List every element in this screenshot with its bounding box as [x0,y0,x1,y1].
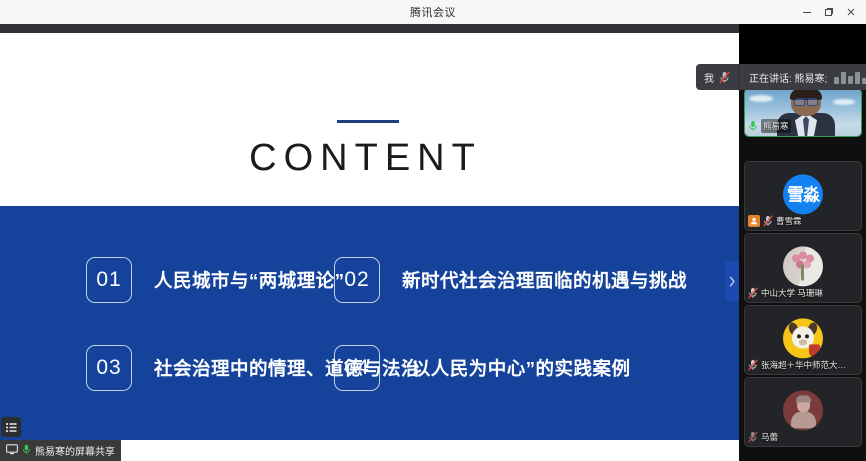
agenda-number: 02 [334,257,380,303]
tile-label: 张海超＋华中师范大… [748,359,846,371]
host-badge-icon [748,215,760,227]
audio-wave-icon [834,71,866,84]
avatar-initials: 雪淼 [787,186,819,203]
active-speaker-panel[interactable]: 正在讲话: 熊易寒; [739,64,866,90]
tencent-meeting-window: 腾讯会议 CONTENT [0,0,866,461]
agenda-number: 03 [86,345,132,391]
portrait-hair [796,395,811,402]
maximize-button[interactable] [818,2,840,22]
dog-eye [797,334,801,338]
list-icon [5,422,18,433]
agenda-list: 01 人民城市与“两城理论” 02 新时代社会治理面临的机遇与挑战 03 社会治… [0,206,739,440]
close-icon [846,7,856,17]
agenda-label: 新时代社会治理面临的机遇与挑战 [402,267,687,293]
floating-speaking-toolbar[interactable]: 我 正在讲话: 熊易寒; [696,64,866,90]
stem-shape [801,264,804,280]
title-rule [337,120,399,123]
taskbar: 熊易寒的屏幕共享 [0,440,739,461]
active-speaker-text: 正在讲话: 熊易寒; [749,70,827,85]
mic-muted-icon [763,215,773,227]
minimize-button[interactable] [796,2,818,22]
monitor-icon [6,442,18,460]
video-tile-participant[interactable]: 马蕾 [744,377,862,447]
agenda-number: 04 [334,345,380,391]
maximize-icon [824,7,834,17]
window-controls [796,0,862,24]
dog-snout [799,339,807,345]
agenda-row: 01 人民城市与“两城理论” 02 新时代社会治理面临的机遇与挑战 [0,236,739,324]
avatar [783,246,823,286]
participant-name: 马蕾 [761,431,778,443]
minimize-icon [802,7,812,17]
mic-on-icon [22,442,31,460]
agenda-row: 03 社会治理中的情理、道德与法治 04 “以人民为中心”的实践案例 [0,324,739,412]
agenda-number: 01 [86,257,132,303]
mic-muted-icon[interactable] [719,71,730,84]
agenda-label: 人民城市与“两城理论” [154,267,345,293]
window-title: 腾讯会议 [410,4,456,20]
taskbar-item-label: 熊易寒的屏幕共享 [35,443,115,458]
video-tile-participant[interactable]: 中山大学 马珊琳 [744,233,862,303]
participant-name: 曹雪霖 [776,215,802,227]
avatar: 雪淼 [783,174,823,214]
participant-name: 中山大学 马珊琳 [761,287,823,299]
close-button[interactable] [840,2,862,22]
tile-label: 熊易寒 [748,119,791,133]
mic-muted-icon [748,431,758,443]
participant-name: 熊易寒 [761,119,791,133]
slide-title: CONTENT [0,137,731,180]
chevron-right-icon [729,276,736,287]
dog-eye [805,334,809,338]
video-tile-speaker[interactable]: 熊易寒 [744,88,862,137]
cup-shape [809,344,820,356]
agenda-label: “以人民为中心”的实践案例 [402,355,631,381]
tile-label: 马蕾 [748,431,778,443]
glasses-shape [794,98,818,105]
agenda-item-02: 02 新时代社会治理面临的机遇与挑战 [325,236,739,324]
title-bar: 腾讯会议 [0,0,866,25]
avatar [783,390,823,430]
portrait-body [791,411,816,428]
participant-name: 张海超＋华中师范大… [761,359,846,371]
video-tile-participant[interactable]: 张海超＋华中师范大… [744,305,862,375]
mic-on-icon [748,120,758,132]
self-label: 我 [704,70,714,85]
agenda-item-04: 04 “以人民为中心”的实践案例 [325,324,739,412]
panel-collapse-handle[interactable] [725,261,739,301]
slide-menu-button[interactable] [1,417,21,437]
avatar [783,318,823,358]
tile-label: 中山大学 马珊琳 [748,287,823,299]
video-tile-participant[interactable]: 雪淼 曹雪霖 [744,161,862,231]
shared-screen-area: CONTENT 01 人民城市与“两城理论” 02 新时代社会治理面临的机遇与挑… [0,24,739,440]
agenda-item-03: 03 社会治理中的情理、道德与法治 [0,324,325,412]
mic-muted-icon [748,287,758,299]
mic-muted-icon [748,359,758,371]
tile-label: 曹雪霖 [748,215,802,227]
agenda-item-01: 01 人民城市与“两城理论” [0,236,325,324]
taskbar-screenshare-item[interactable]: 熊易寒的屏幕共享 [0,440,121,461]
cloud-shape [833,99,855,105]
shared-window-top-band [0,24,739,33]
presentation-slide: CONTENT 01 人民城市与“两城理论” 02 新时代社会治理面临的机遇与挑… [0,33,739,440]
self-mic-control[interactable]: 我 [696,64,739,90]
cloud-shape [749,95,773,102]
